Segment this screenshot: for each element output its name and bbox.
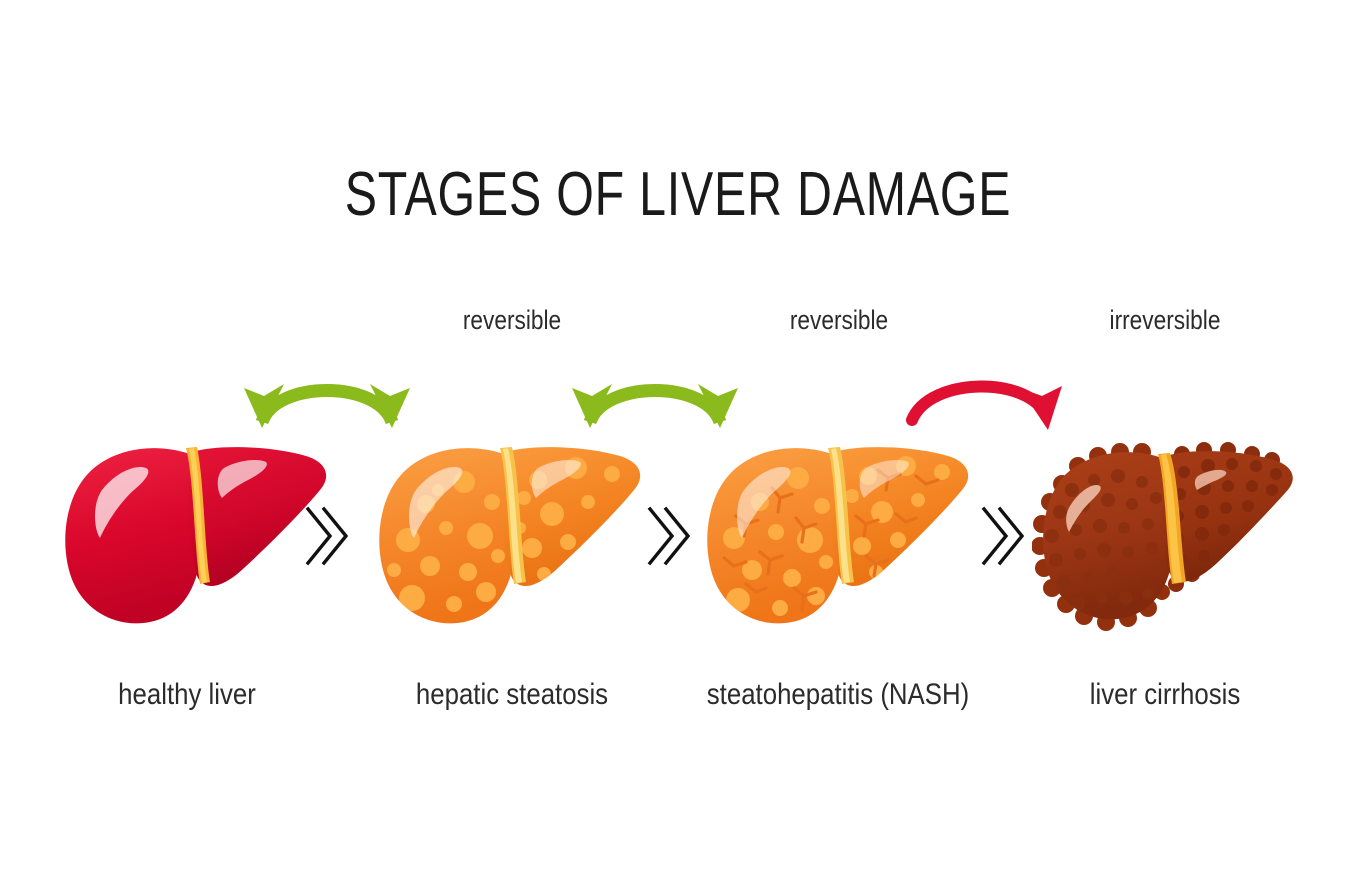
liver-illustration-steatosis	[372, 432, 648, 645]
arrow-reversible-2	[560, 358, 750, 443]
liver-illustration-cirrhosis	[1032, 432, 1308, 645]
cirrhosis-liver-icon	[1032, 432, 1308, 640]
stage-caption-healthy-liver: healthy liver	[45, 678, 329, 711]
curved-arrow-right-icon	[890, 358, 1080, 438]
double-headed-curved-arrow-icon	[232, 358, 422, 438]
double-chevron-right-icon	[978, 505, 1024, 567]
steatosis-liver-icon	[372, 432, 648, 640]
nash-liver-icon	[700, 432, 976, 640]
stage-caption-hepatic-steatosis: hepatic steatosis	[370, 678, 654, 711]
reversibility-label-3: irreversible	[1056, 306, 1274, 336]
double-chevron-right-icon	[644, 505, 690, 567]
page-title: STAGES OF LIVER DAMAGE	[149, 164, 1207, 226]
stage-separator-3	[978, 505, 1024, 572]
reversibility-label-1: reversible	[403, 306, 621, 336]
healthy-liver-icon	[58, 432, 334, 640]
stage-separator-2	[644, 505, 690, 572]
arrow-reversible-1	[232, 358, 422, 443]
liver-damage-infographic: STAGES OF LIVER DAMAGE reversible revers…	[0, 0, 1356, 892]
double-headed-curved-arrow-icon	[560, 358, 750, 438]
arrow-irreversible	[890, 358, 1080, 443]
stage-caption-steatohepatitis: steatohepatitis (NASH)	[696, 678, 980, 711]
stage-caption-liver-cirrhosis: liver cirrhosis	[1023, 678, 1307, 711]
liver-illustration-nash	[700, 432, 976, 645]
reversibility-label-2: reversible	[730, 306, 948, 336]
liver-illustration-healthy	[58, 432, 334, 645]
